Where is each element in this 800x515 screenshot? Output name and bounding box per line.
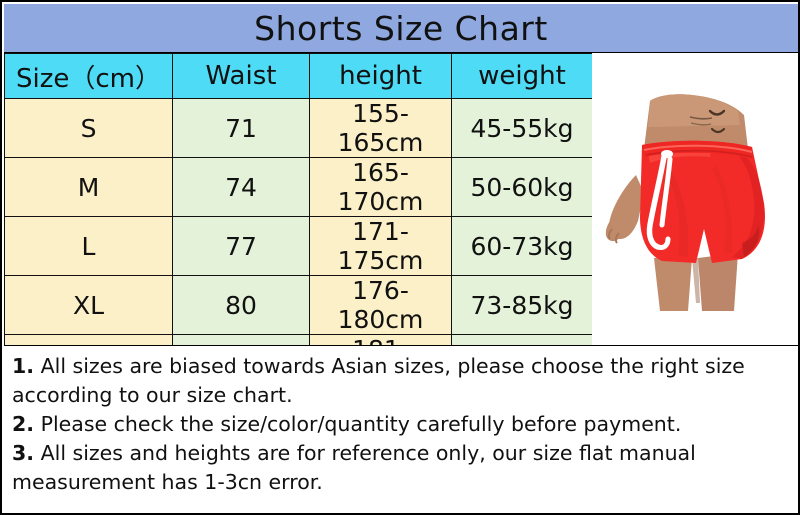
cell-height: 155-165cm: [310, 99, 452, 158]
cell-height: 165-170cm: [310, 158, 452, 217]
page-title: Shorts Size Chart: [254, 9, 548, 48]
column-header-height: height: [310, 54, 452, 99]
column-header-waist: Waist: [173, 54, 310, 99]
note-number: 1.: [12, 354, 34, 378]
table-row: L 77 171-175cm 60-73kg: [5, 217, 593, 276]
cell-weight: 45-55kg: [452, 99, 593, 158]
cell-waist: 77: [173, 217, 310, 276]
cell-waist: 71: [173, 99, 310, 158]
table-row: M 74 165-170cm 50-60kg: [5, 158, 593, 217]
note-number: 3.: [12, 441, 34, 465]
cell-waist: 80: [173, 276, 310, 335]
cell-height: 171-175cm: [310, 217, 452, 276]
cell-weight: 50-60kg: [452, 158, 593, 217]
note-text: Please check the size/color/quantity car…: [41, 412, 682, 436]
size-chart-image: Shorts Size Chart Size（cm） Waist height …: [0, 0, 800, 515]
chart-body: Size（cm） Waist height weight S 71 155-16…: [4, 53, 798, 345]
cell-size: XL: [5, 276, 173, 335]
product-photo: [592, 53, 798, 345]
note-item: 3. All sizes and heights are for referen…: [12, 439, 790, 497]
table-row: S 71 155-165cm 45-55kg: [5, 99, 593, 158]
cell-size: S: [5, 99, 173, 158]
notes-section: 1. All sizes are biased towards Asian si…: [4, 345, 798, 513]
column-header-size: Size（cm）: [5, 54, 173, 99]
column-header-weight: weight: [452, 54, 593, 99]
table-header-row: Size（cm） Waist height weight: [5, 54, 593, 99]
product-photo-illustration: [592, 53, 798, 345]
note-item: 2. Please check the size/color/quantity …: [12, 410, 790, 439]
note-text: All sizes and heights are for reference …: [12, 441, 696, 494]
cell-size: M: [5, 158, 173, 217]
cell-size: L: [5, 217, 173, 276]
table-row: XL 80 176-180cm 73-85kg: [5, 276, 593, 335]
cell-waist: 74: [173, 158, 310, 217]
chart-title-bar: Shorts Size Chart: [4, 4, 798, 53]
note-item: 1. All sizes are biased towards Asian si…: [12, 352, 790, 410]
note-text: All sizes are biased towards Asian sizes…: [12, 354, 745, 407]
cell-height: 176-180cm: [310, 276, 452, 335]
cell-weight: 73-85kg: [452, 276, 593, 335]
note-number: 2.: [12, 412, 34, 436]
cell-weight: 60-73kg: [452, 217, 593, 276]
